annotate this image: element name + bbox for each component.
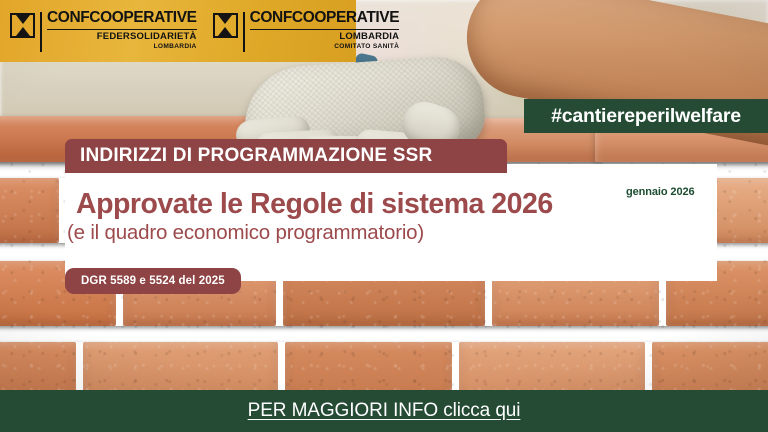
more-info-link[interactable]: PER MAGGIORI INFO clicca qui [248,400,521,422]
page-subtitle: (e il quadro economico programmatorio) [67,222,424,245]
publication-date: gennaio 2026 [626,186,695,198]
page-title: Approvate le Regole di sistema 2026 [76,190,553,220]
logo-lombardia-comitato-sanita[interactable]: CONFCOOPERATIVE LOMBARDIA COMITATO SANIT… [213,10,400,52]
logo-name: CONFCOOPERATIVE [47,10,197,26]
confcooperative-emblem-icon [10,13,35,38]
reference-badge: DGR 5589 e 5524 del 2025 [65,268,241,294]
logo-committee: COMITATO SANITÀ [250,43,400,52]
logo-divider [40,12,42,52]
confcooperative-emblem-icon [213,13,238,38]
logo-divider [243,12,245,52]
logo-rule [47,29,197,30]
section-ribbon: INDIRIZZI DI PROGRAMMAZIONE SSR [65,139,507,173]
logo-region: LOMBARDIA [47,43,197,52]
banner-root: CONFCOOPERATIVE FEDERSOLIDARIETÀ LOMBARD… [0,0,768,432]
logo-federsolidarieta[interactable]: CONFCOOPERATIVE FEDERSOLIDARIETÀ LOMBARD… [10,10,197,52]
logo-subtitle: FEDERSOLIDARIETÀ [47,32,197,43]
hashtag-label: #cantiereperilwelfare [551,105,741,128]
logo-subtitle: LOMBARDIA [250,32,400,43]
campaign-hashtag: #cantiereperilwelfare [524,99,768,133]
logo-bar: CONFCOOPERATIVE FEDERSOLIDARIETÀ LOMBARD… [0,0,356,62]
logo-rule [250,29,400,30]
footer-bar: PER MAGGIORI INFO clicca qui [0,390,768,432]
logo-name: CONFCOOPERATIVE [250,10,400,26]
ribbon-label: INDIRIZZI DI PROGRAMMAZIONE SSR [65,145,432,167]
